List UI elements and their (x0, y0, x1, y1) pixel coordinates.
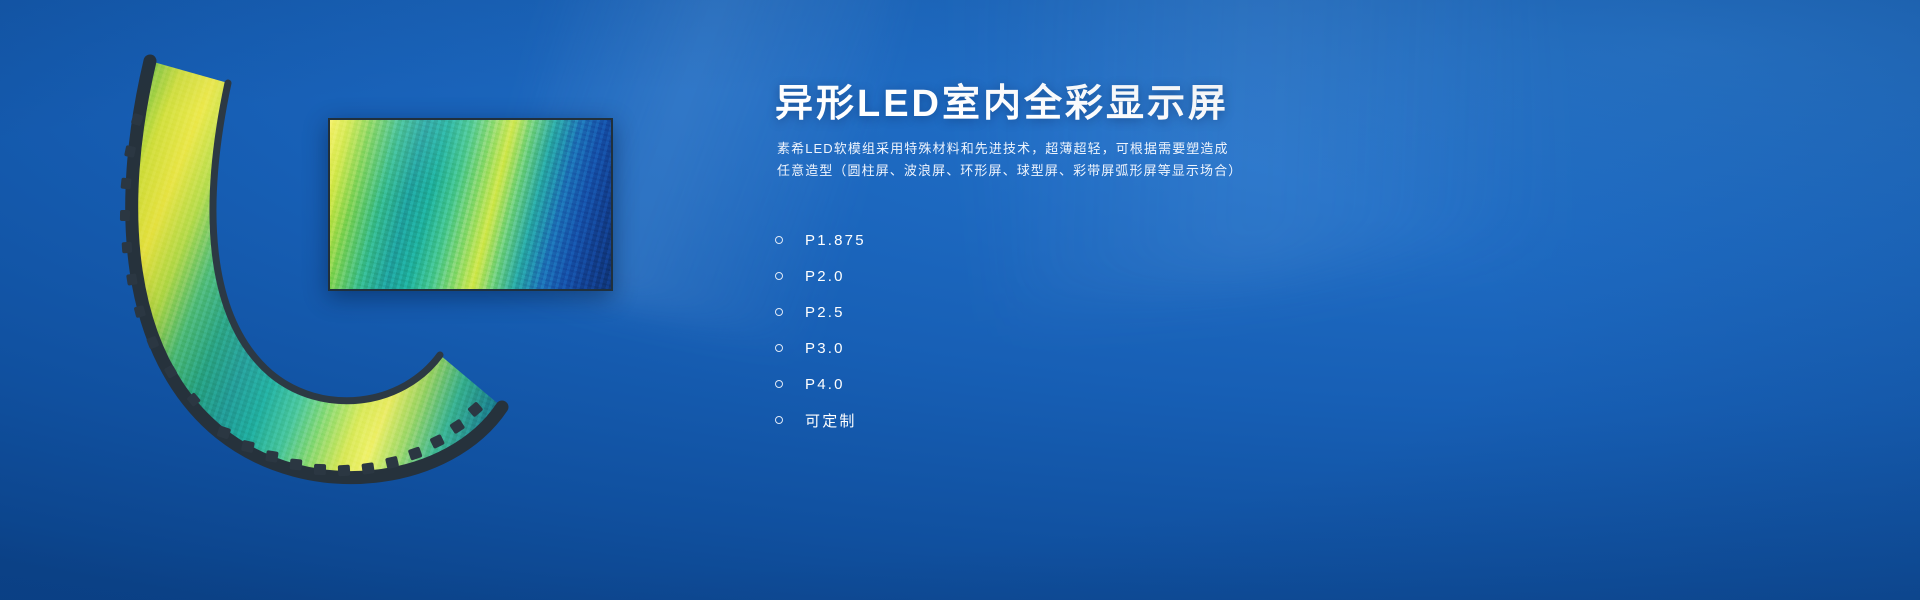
hollow-circle-bullet-icon (775, 344, 783, 352)
promo-banner: 异形LED室内全彩显示屏 素希LED软模组采用特殊材料和先进技术，超薄超轻，可根… (0, 0, 1920, 600)
hollow-circle-bullet-icon (775, 236, 783, 244)
spec-label: P1.875 (805, 232, 866, 249)
hollow-circle-bullet-icon (775, 416, 783, 424)
list-item[interactable]: P3.0 (775, 330, 866, 366)
spec-label: 可定制 (805, 410, 857, 431)
banner-copy: 异形LED室内全彩显示屏 素希LED软模组采用特殊材料和先进技术，超薄超轻，可根… (775, 0, 1875, 600)
spec-label: P2.5 (805, 304, 845, 321)
spec-label: P4.0 (805, 376, 845, 393)
list-item[interactable]: 可定制 (775, 402, 866, 438)
flat-led-panel (328, 118, 613, 291)
pixel-pitch-spec-list: P1.875 P2.0 P2.5 P3.0 P4.0 可定制 (775, 222, 866, 438)
list-item[interactable]: P4.0 (775, 366, 866, 402)
hollow-circle-bullet-icon (775, 308, 783, 316)
hollow-circle-bullet-icon (775, 272, 783, 280)
list-item[interactable]: P2.0 (775, 258, 866, 294)
hollow-circle-bullet-icon (775, 380, 783, 388)
description-line-1: 素希LED软模组采用特殊材料和先进技术，超薄超轻，可根据需要塑造成 (777, 138, 1437, 160)
page-title: 异形LED室内全彩显示屏 (775, 72, 1229, 127)
spec-label: P3.0 (805, 340, 845, 357)
description-line-2: 任意造型（圆柱屏、波浪屏、环形屏、球型屏、彩带屏弧形屏等显示场合） (777, 160, 1437, 182)
product-visual (0, 0, 760, 600)
spec-label: P2.0 (805, 268, 845, 285)
list-item[interactable]: P2.5 (775, 294, 866, 330)
list-item[interactable]: P1.875 (775, 222, 866, 258)
product-description: 素希LED软模组采用特殊材料和先进技术，超薄超轻，可根据需要塑造成 任意造型（圆… (777, 138, 1437, 182)
flat-panel-gloss (330, 120, 611, 289)
